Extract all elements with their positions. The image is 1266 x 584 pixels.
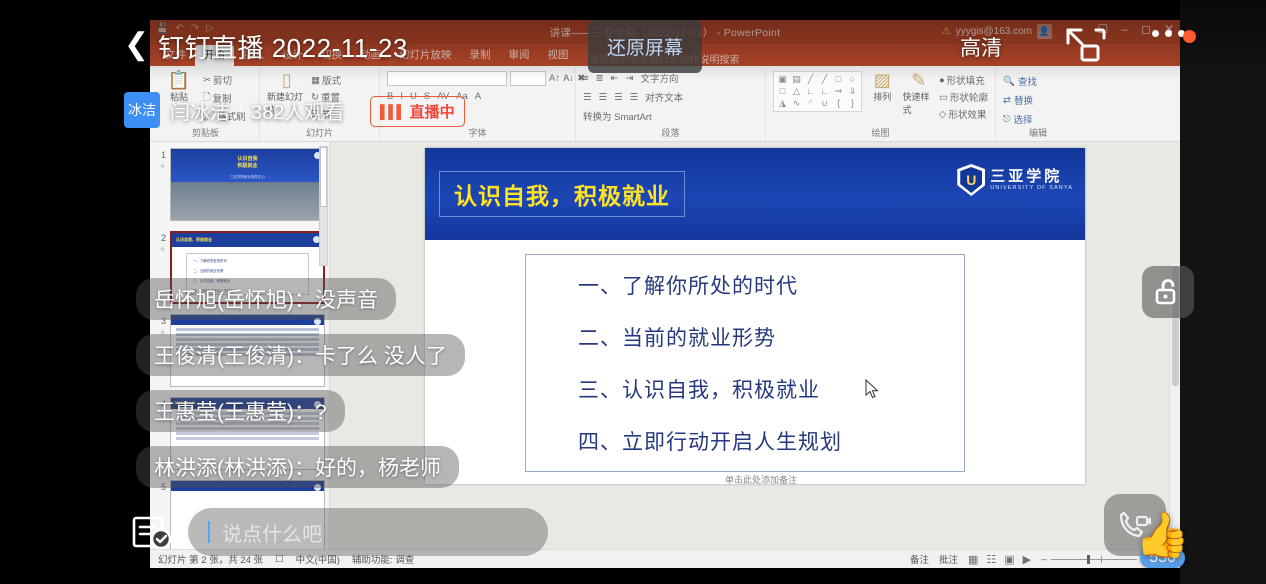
effects-icon: ◇ xyxy=(939,109,946,120)
zoom-slider-handle[interactable] xyxy=(1087,555,1090,564)
current-slide[interactable]: 认识自我，积极就业 U 三亚学院 UNIVERSITY OF SANYA xyxy=(425,148,1085,484)
clipboard-icon: 📋 xyxy=(168,71,190,90)
ribbon-group-label-editing: 编辑 xyxy=(1003,126,1073,141)
increase-indent-button[interactable]: ⇥ xyxy=(625,71,633,85)
crest-icon: U xyxy=(957,164,985,196)
ribbon-group-label-clipboard: 剪贴板 xyxy=(159,126,252,141)
presenter-info: 冰洁 闫冰洁 382人观看 xyxy=(124,92,344,128)
shape-arrow-down-icon[interactable]: ⇓ xyxy=(846,86,859,97)
tab-review[interactable]: 审阅 xyxy=(500,45,539,66)
layout-button[interactable]: ▦ 版式 xyxy=(311,73,341,87)
back-chevron-icon[interactable]: ❮ xyxy=(124,30,149,60)
chat-input-placeholder: 说点什么吧 xyxy=(222,518,322,547)
minimize-icon[interactable]: – xyxy=(1121,22,1128,36)
shape-effects-button[interactable]: ◇ 形状效果 xyxy=(939,107,988,121)
thumb-number: 1 xyxy=(161,150,166,160)
shape-textbox-icon[interactable]: ▣ xyxy=(776,74,789,85)
font-size-input[interactable] xyxy=(510,71,546,86)
live-bottom-bar: 说点什么吧 xyxy=(132,508,548,556)
cut-button[interactable]: ✂ 剪切 xyxy=(203,73,246,87)
zoom-out-icon[interactable]: – xyxy=(1041,554,1046,565)
chat-input[interactable]: 说点什么吧 xyxy=(188,508,548,556)
fill-bucket-icon: ● xyxy=(939,75,945,86)
ribbon-group-label-font: 字体 xyxy=(387,126,568,141)
shape-arrow-icon[interactable]: ╱ xyxy=(818,74,831,85)
outline-pen-icon: ▭ xyxy=(939,92,948,103)
ribbon-group-label-paragraph: 段落 xyxy=(583,126,758,141)
ribbon-group-label-drawing: 绘图 xyxy=(773,126,988,141)
slide-bullet-2: 二、当前的就业形势 xyxy=(578,322,912,352)
warning-triangle-icon: ⚠ xyxy=(942,26,951,37)
university-logo: U 三亚学院 UNIVERSITY OF SANYA xyxy=(957,164,1073,196)
shape-curve-icon[interactable]: ∪ xyxy=(818,98,831,109)
shape-freeform-icon[interactable]: ◮ xyxy=(776,98,789,109)
quick-styles-button[interactable]: ✎ 快速样式 xyxy=(903,71,936,116)
checklist-signin-icon[interactable] xyxy=(132,513,174,551)
align-text-button[interactable]: 对齐文本 xyxy=(645,90,683,104)
list-item: 王惠莹(王惠莹)：? xyxy=(136,390,345,432)
numbering-button[interactable]: ≣ xyxy=(596,71,604,85)
justify-button[interactable]: ☰ xyxy=(630,90,639,104)
thumbs-up-icon: 👍 xyxy=(1135,514,1190,558)
quality-selector[interactable]: 高清 xyxy=(960,32,1002,62)
tab-record[interactable]: 录制 xyxy=(461,45,500,66)
unlock-icon[interactable] xyxy=(1142,266,1194,318)
decrease-indent-button[interactable]: ⇤ xyxy=(611,71,619,85)
slide-thumbnail-1[interactable]: 1 ✧ 认识自我积极就业 三亚学院就业指导中心 xyxy=(154,148,325,221)
arrange-icon: ▨ xyxy=(874,71,891,90)
shape-rect-icon[interactable]: □ xyxy=(832,74,845,85)
like-button[interactable]: 👍 550 xyxy=(1135,514,1190,568)
slide-bullet-1: 一、了解你所处的时代 xyxy=(578,270,912,300)
align-right-button[interactable]: ☰ xyxy=(614,90,623,104)
pointer-icon: ⎋ xyxy=(1003,114,1011,125)
slideshow-icon[interactable]: ▶ xyxy=(1023,553,1031,566)
shape-outline-button[interactable]: ▭ 形状轮廓 xyxy=(939,90,988,104)
ribbon-group-label-slides: 幻灯片 xyxy=(267,126,372,141)
slide-content-box[interactable]: 一、了解你所处的时代 二、当前的就业形势 三、认识自我，积极就业 四、立即行动开… xyxy=(525,254,965,472)
logo-name-cn: 三亚学院 xyxy=(990,169,1073,185)
shape-triangle-icon[interactable]: △ xyxy=(790,86,803,97)
search-icon: 🔍 xyxy=(1003,76,1015,87)
align-center-button[interactable]: ☰ xyxy=(599,90,608,104)
slide-title-box[interactable]: 认识自我，积极就业 xyxy=(439,171,685,217)
shape-picture-icon[interactable]: ▤ xyxy=(790,74,803,85)
letterbox-left xyxy=(0,0,150,584)
thumbnail-scrollbar[interactable] xyxy=(319,146,328,266)
list-item: 岳怀旭(岳怀旭)：没声音 xyxy=(136,278,396,320)
shape-elbow-icon[interactable]: ∟ xyxy=(804,86,817,97)
scissors-icon: ✂ xyxy=(203,75,211,86)
list-item: 林洪添(林洪添)：好的，杨老师 xyxy=(136,446,459,488)
avatar[interactable]: 冰洁 xyxy=(124,92,160,128)
convert-smartart-button[interactable]: 转换为 SmartArt xyxy=(583,109,652,123)
arrange-button[interactable]: ▨ 排列 xyxy=(866,71,899,103)
presenter-name: 闫冰洁 xyxy=(170,96,230,125)
divider xyxy=(240,101,241,119)
ribbon-group-paragraph: ≡ ≣ ⇤ ⇥ 文字方向 ☰ ☰ ☰ ☰ 对齐文本 转换为 SmartA xyxy=(576,68,766,141)
increase-font-size-icon[interactable]: A↑ xyxy=(549,73,560,84)
shape-gallery[interactable]: ▣ ▤ ╱ ╱ □ ○ □ △ ∟ ∟ ⇒ ⇓ ◮ ∿ ◜ xyxy=(773,71,862,112)
signal-bars-icon: ▌▌▌ xyxy=(380,104,405,119)
new-slide-icon: ▯ xyxy=(282,71,292,90)
shape-line-icon[interactable]: ╱ xyxy=(804,74,817,85)
thumb-title-2: 认识自我，积极就业 xyxy=(172,233,323,247)
thumb-number: 2 xyxy=(161,233,166,243)
comments-button[interactable]: 批注 xyxy=(939,552,958,566)
list-item: 王俊清(王俊清)：卡了么 没人了 xyxy=(136,334,465,376)
tab-view[interactable]: 视图 xyxy=(539,45,578,66)
normal-view-icon[interactable]: ▦ xyxy=(968,553,978,566)
animation-star-icon: ✧ xyxy=(154,161,166,172)
select-button[interactable]: ⎋ 选择 xyxy=(1003,112,1033,126)
align-left-button[interactable]: ☰ xyxy=(583,90,592,104)
live-stream-screen: 💾 ↶ ↷ ▷ 讲课——三亚学院（2022-11-23） - PowerPoin… xyxy=(0,0,1266,584)
ribbon-group-drawing: ▣ ▤ ╱ ╱ □ ○ □ △ ∟ ∟ ⇒ ⇓ ◮ ∿ ◜ xyxy=(766,68,996,141)
quick-styles-icon: ✎ xyxy=(911,71,926,90)
slide-header: 认识自我，积极就业 U 三亚学院 UNIVERSITY OF SANYA xyxy=(425,148,1085,240)
slide-sorter-icon[interactable]: ☷ xyxy=(986,553,996,566)
layout-icon: ▦ xyxy=(311,75,320,86)
restore-screen-button[interactable]: 还原屏幕 xyxy=(588,20,702,73)
shape-scribble-icon[interactable]: ∿ xyxy=(790,98,803,109)
thumb-preview[interactable]: 认识自我积极就业 三亚学院就业指导中心 xyxy=(170,148,325,221)
notes-button[interactable]: 备注 xyxy=(910,552,929,566)
logo-name-en: UNIVERSITY OF SANYA xyxy=(990,185,1073,191)
bullets-button[interactable]: ≡ xyxy=(583,71,589,85)
decrease-font-size-icon[interactable]: A↓ xyxy=(563,73,574,84)
shape-arrow-right-icon[interactable]: ⇒ xyxy=(832,86,845,97)
font-color-button[interactable]: A xyxy=(475,91,481,102)
viewer-count: 382人观看 xyxy=(251,96,344,125)
more-options-icon[interactable] xyxy=(1152,30,1185,37)
view-switcher[interactable]: ▦ ☷ ▣ ▶ xyxy=(968,553,1031,566)
chat-message-list: 岳怀旭(岳怀旭)：没声音 王俊清(王俊清)：卡了么 没人了 王惠莹(王惠莹)：?… xyxy=(136,278,465,488)
notes-placeholder[interactable]: 单击此处添加备注 xyxy=(725,473,797,484)
slide-bullet-3: 三、认识自我，积极就业 xyxy=(578,374,912,404)
shape-connector-icon[interactable]: ∟ xyxy=(818,86,831,97)
replace-icon: ⇄ xyxy=(1003,95,1011,106)
picture-in-picture-icon[interactable] xyxy=(1062,26,1106,66)
replace-button[interactable]: ⇄ 替换 xyxy=(1003,93,1033,107)
thumb-title-1: 认识自我积极就业 xyxy=(171,156,324,170)
live-room-title: 钉钉直播 2022-11-23 xyxy=(158,28,408,65)
shape-arc-icon[interactable]: ◜ xyxy=(804,98,817,109)
mouse-cursor-icon xyxy=(864,379,882,401)
restore-window-icon[interactable]: ◻ xyxy=(1141,22,1151,36)
reading-view-icon[interactable]: ▣ xyxy=(1004,553,1014,566)
animation-star-icon: ✧ xyxy=(154,244,166,255)
slide-bullet-4: 四、立即行动开启人生规划 xyxy=(578,426,912,456)
scrollbar-thumb[interactable] xyxy=(320,147,327,207)
ribbon-group-editing: 🔍 查找 ⇄ 替换 ⎋ 选择 编辑 xyxy=(996,68,1080,141)
font-name-input[interactable] xyxy=(387,71,507,86)
status-badge: ▌▌▌ 直播中 xyxy=(370,96,465,127)
text-direction-button[interactable]: 文字方向 xyxy=(640,71,678,85)
shape-fill-button[interactable]: ● 形状填充 xyxy=(939,73,988,87)
shape-oval-icon[interactable]: ○ xyxy=(846,74,859,85)
shape-rect2-icon[interactable]: □ xyxy=(776,86,789,97)
live-badge-label: 直播中 xyxy=(410,101,455,122)
slide-title: 认识自我，积极就业 xyxy=(454,177,670,211)
find-button[interactable]: 🔍 查找 xyxy=(1003,74,1037,88)
shape-brace-left-icon[interactable]: { xyxy=(832,98,845,109)
text-caret xyxy=(208,521,210,543)
shape-brace-right-icon[interactable]: } xyxy=(846,98,859,109)
account-avatar-icon[interactable]: 👤 xyxy=(1037,24,1052,39)
recording-indicator-icon xyxy=(1183,30,1196,43)
